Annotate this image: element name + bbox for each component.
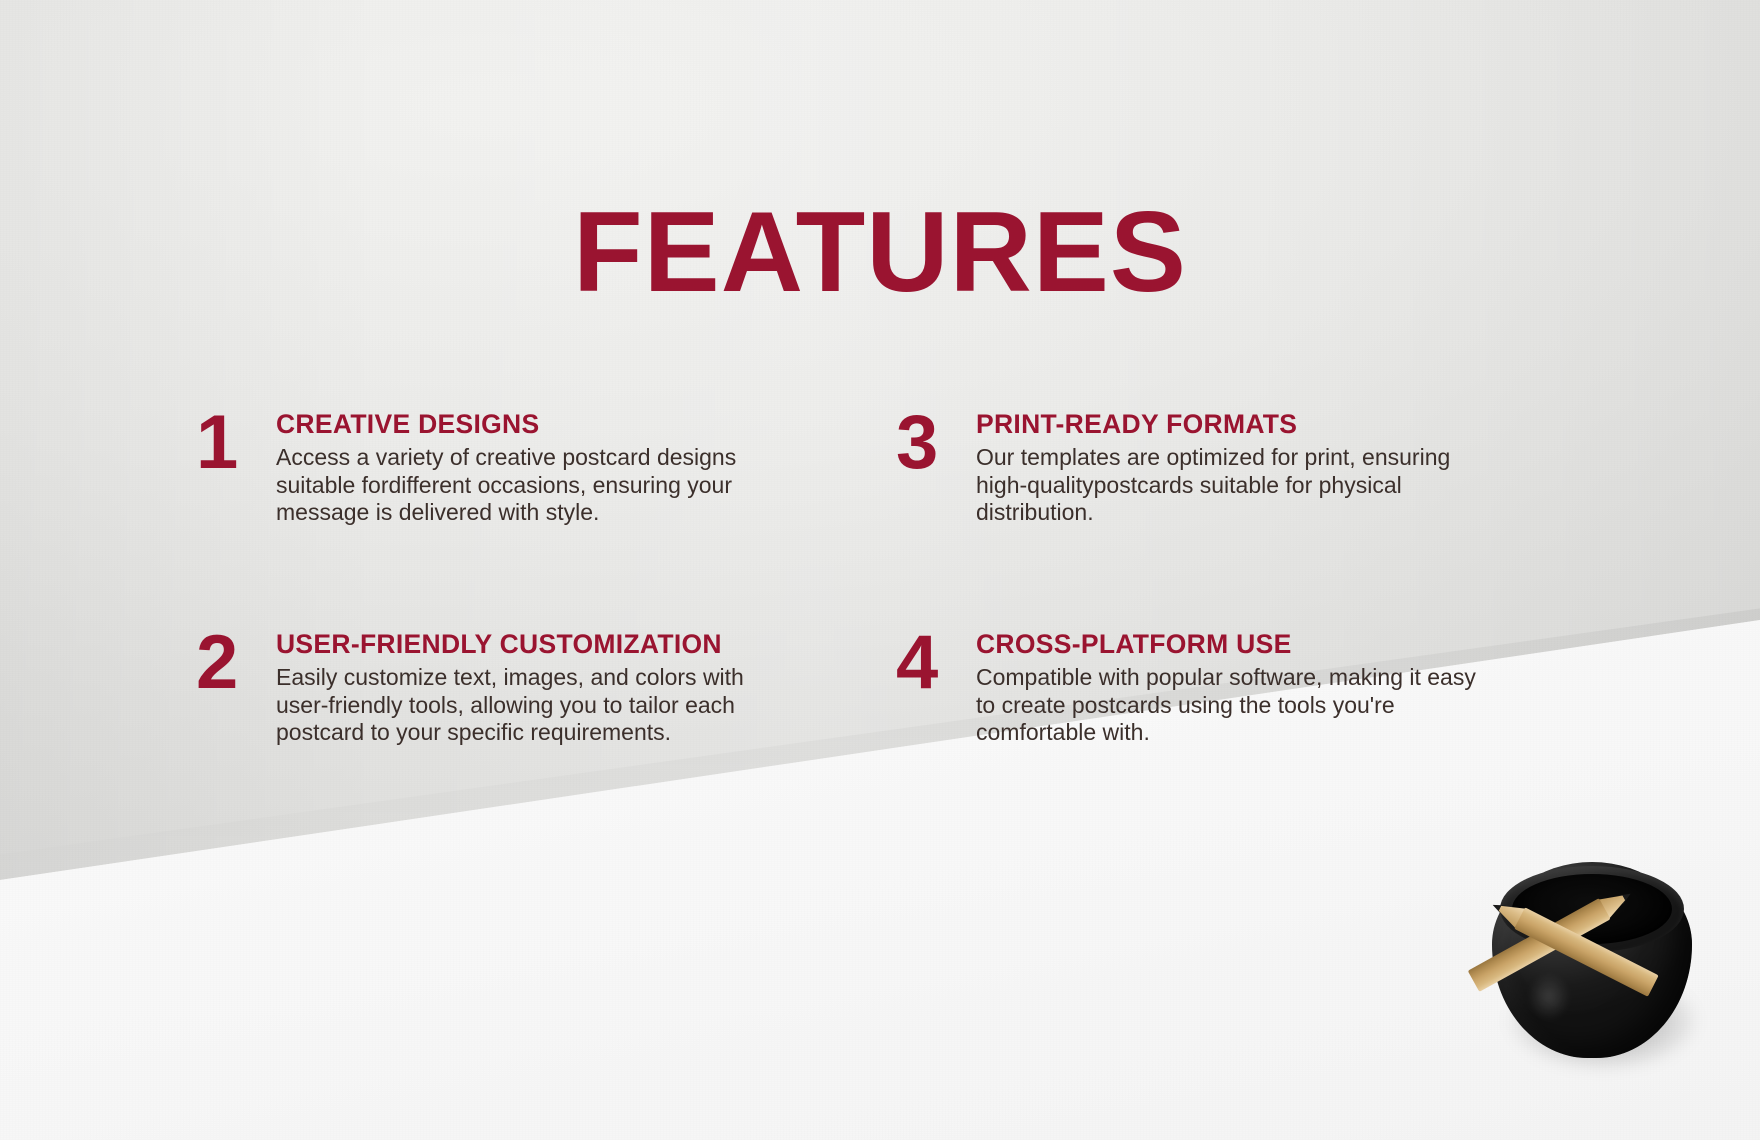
feature-description: Compatible with popular software, making… <box>976 664 1476 747</box>
cup-highlight <box>1520 964 1578 1030</box>
features-grid: 1 CREATIVE DESIGNS Access a variety of c… <box>196 410 1596 747</box>
feature-content: CREATIVE DESIGNS Access a variety of cre… <box>272 410 896 527</box>
feature-item-1: 1 CREATIVE DESIGNS Access a variety of c… <box>196 410 896 630</box>
page-title: FEATURES <box>0 196 1760 310</box>
feature-number: 4 <box>896 630 972 695</box>
feature-content: PRINT-READY FORMATS Our templates are op… <box>972 410 1596 527</box>
features-slide: FEATURES 1 CREATIVE DESIGNS Access a var… <box>0 0 1760 1140</box>
feature-item-2: 2 USER-FRIENDLY CUSTOMIZATION Easily cus… <box>196 630 896 747</box>
feature-number: 1 <box>196 410 272 475</box>
feature-description: Our templates are optimized for print, e… <box>976 444 1476 527</box>
feature-item-3: 3 PRINT-READY FORMATS Our templates are … <box>896 410 1596 630</box>
feature-description: Easily customize text, images, and color… <box>276 664 746 747</box>
feature-number: 2 <box>196 630 272 695</box>
feature-description: Access a variety of creative postcard de… <box>276 444 746 527</box>
feature-item-4: 4 CROSS-PLATFORM USE Compatible with pop… <box>896 630 1596 747</box>
feature-title: USER-FRIENDLY CUSTOMIZATION <box>276 630 896 659</box>
feature-content: CROSS-PLATFORM USE Compatible with popul… <box>972 630 1596 747</box>
feature-title: CROSS-PLATFORM USE <box>976 630 1596 659</box>
feature-title: PRINT-READY FORMATS <box>976 410 1596 439</box>
feature-content: USER-FRIENDLY CUSTOMIZATION Easily custo… <box>272 630 896 747</box>
feature-title: CREATIVE DESIGNS <box>276 410 896 439</box>
pencil-holder-icon <box>1492 860 1712 1080</box>
feature-number: 3 <box>896 410 972 475</box>
